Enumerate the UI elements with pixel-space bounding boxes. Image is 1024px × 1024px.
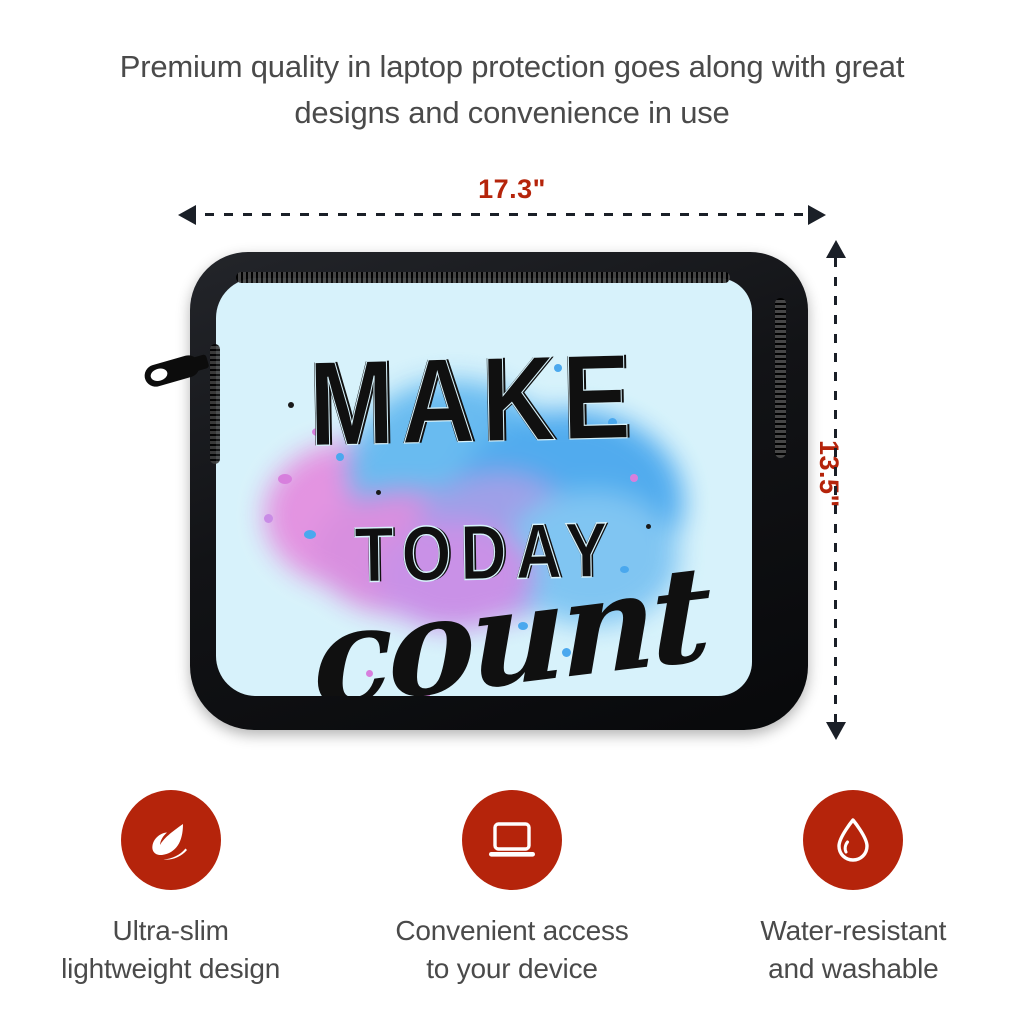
height-arrow-down-icon xyxy=(826,722,846,740)
sleeve-printed-face: MAKE TODAY count xyxy=(216,278,752,696)
water-drop-icon xyxy=(825,812,881,868)
laptop-icon xyxy=(483,811,541,869)
feature-water-resistant: Water-resistant and washable xyxy=(683,790,1024,988)
width-arrow-left-icon xyxy=(178,205,196,225)
headline: Premium quality in laptop protection goe… xyxy=(0,44,1024,136)
feather-icon xyxy=(143,812,199,868)
zipper-left xyxy=(210,344,220,464)
feature-caption-line-1: Convenient access xyxy=(395,912,628,950)
feature-caption-line-2: lightweight design xyxy=(61,950,280,988)
design-lettering: MAKE TODAY count xyxy=(216,278,752,696)
feature-caption-convenient-access: Convenient access to your device xyxy=(395,912,628,988)
design-line-make: MAKE xyxy=(308,336,638,464)
laptop-icon-badge xyxy=(462,790,562,890)
headline-line-2: designs and convenience in use xyxy=(0,90,1024,136)
width-dimension-label: 17.3" xyxy=(0,174,1024,205)
feature-caption-line-1: Ultra-slim xyxy=(61,912,280,950)
feature-caption-line-2: and washable xyxy=(760,950,946,988)
feature-caption-water-resistant: Water-resistant and washable xyxy=(760,912,946,988)
width-arrow-right-icon xyxy=(808,205,826,225)
zipper-top xyxy=(236,272,730,283)
water-drop-icon-badge xyxy=(803,790,903,890)
feature-caption-line-1: Water-resistant xyxy=(760,912,946,950)
feature-caption-ultra-slim: Ultra-slim lightweight design xyxy=(61,912,280,988)
zipper-right xyxy=(775,298,786,458)
feather-icon-badge xyxy=(121,790,221,890)
height-dimension-line xyxy=(834,258,837,722)
product-laptop-sleeve: MAKE TODAY count xyxy=(190,252,808,730)
feature-caption-line-2: to your device xyxy=(395,950,628,988)
feature-ultra-slim: Ultra-slim lightweight design xyxy=(0,790,341,988)
width-dimension-line xyxy=(186,213,814,216)
height-dimension-label: 13.5" xyxy=(813,440,844,508)
height-arrow-up-icon xyxy=(826,240,846,258)
features-row: Ultra-slim lightweight design Convenient… xyxy=(0,790,1024,988)
headline-line-1: Premium quality in laptop protection goe… xyxy=(0,44,1024,90)
feature-convenient-access: Convenient access to your device xyxy=(341,790,682,988)
